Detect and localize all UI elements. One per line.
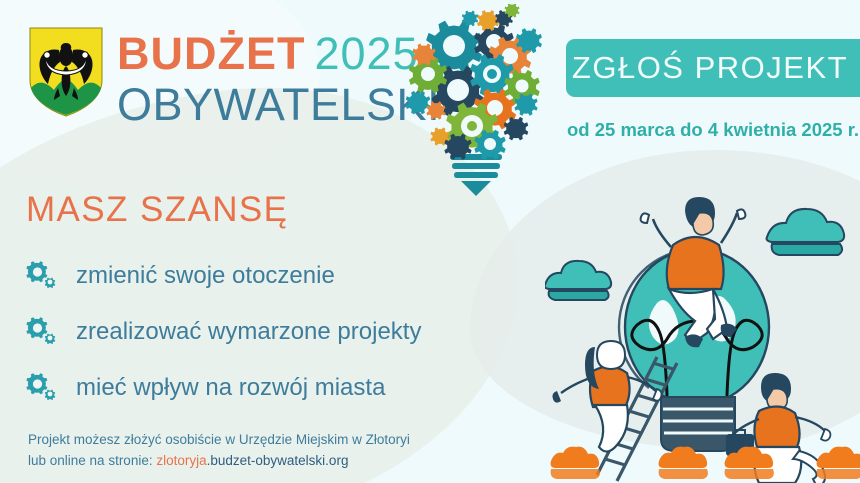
double-gear-icon (26, 373, 60, 403)
submit-project-button[interactable]: ZGŁOŚ PROJEKT (566, 39, 860, 97)
submit-project-label: ZGŁOŚ PROJEKT (572, 50, 860, 86)
cloud-icon (545, 261, 611, 300)
double-gear-icon (26, 317, 60, 347)
title-obywatelski: OBYWATELSKI (117, 82, 417, 127)
headline: MASZ SZANSĘ (26, 190, 288, 230)
page-title: BUDŻET2025 OBYWATELSKI (117, 31, 417, 127)
people-with-giant-lightbulb-illustration (545, 185, 860, 483)
cloud-icon (767, 209, 845, 255)
list-item-label: mieć wpływ na rozwój miasta (76, 374, 385, 402)
bush-icon (817, 447, 860, 479)
footer-line-2: lub online na stronie: zlotoryja.budzet-… (28, 451, 448, 472)
footer-line-1: Projekt możesz złożyć osobiście w Urzędz… (28, 430, 448, 451)
list-item: zrealizować wymarzone projekty (26, 304, 496, 360)
list-item-label: zrealizować wymarzone projekty (76, 318, 421, 346)
title-budzet: BUDŻET (117, 28, 305, 79)
site-url-highlight[interactable]: zlotoryja (156, 453, 206, 468)
budget-banner: BUDŻET2025 OBYWATELSKI (0, 0, 860, 483)
list-item: mieć wpływ na rozwój miasta (26, 360, 496, 416)
benefits-list: zmienić swoje otoczenie zrealizować wyma… (26, 248, 496, 416)
gear-lightbulb-icon (396, 4, 556, 200)
site-url-rest[interactable]: .budzet-obywatelski.org (207, 453, 349, 468)
list-item: zmienić swoje otoczenie (26, 248, 496, 304)
double-gear-icon (26, 261, 60, 291)
bush-icon (551, 447, 600, 479)
list-item-label: zmienić swoje otoczenie (76, 262, 335, 290)
zlotoryja-coat-of-arms-icon (28, 26, 104, 118)
submission-period-text: od 25 marca do 4 kwietnia 2025 r. (567, 119, 860, 141)
footer-line-2-prefix: lub online na stronie: (28, 453, 156, 468)
footer-note: Projekt możesz złożyć osobiście w Urzędz… (28, 430, 448, 472)
